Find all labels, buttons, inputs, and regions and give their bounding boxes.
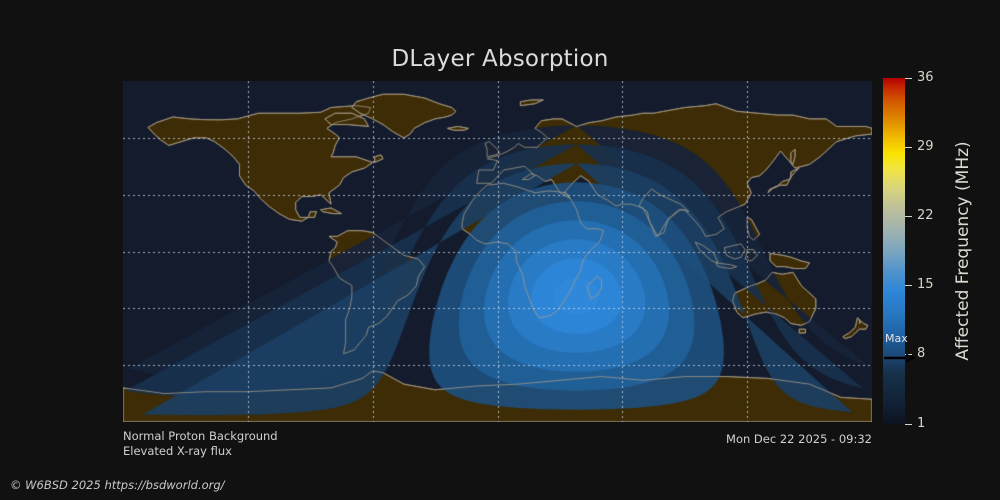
colorbar-tick-label: 1 <box>917 417 925 430</box>
tick-dash-icon <box>905 424 912 425</box>
world-map-absorption-canvas[interactable] <box>123 81 872 422</box>
tick-dash-icon <box>905 285 912 286</box>
colorbar-tick-label: 22 <box>917 209 934 222</box>
timestamp: Mon Dec 22 2025 - 09:32 <box>726 432 872 446</box>
colorbar-tick-label: 29 <box>917 140 934 153</box>
copyright-notice: © W6BSD 2025 https://bsdworld.org/ <box>10 478 225 492</box>
colorbar-axis-label: Affected Frequency (MHz) <box>953 78 977 424</box>
colorbar[interactable] <box>883 78 905 424</box>
colorbar-tick-label: 36 <box>917 71 934 84</box>
status-block: Normal Proton Background Elevated X-ray … <box>123 429 278 459</box>
map-plot-area[interactable] <box>123 81 872 422</box>
colorbar-gradient <box>883 78 905 424</box>
page-title: DLayer Absorption <box>0 46 1000 72</box>
tick-dash-icon <box>905 216 912 217</box>
status-xray-flux: Elevated X-ray flux <box>123 444 278 459</box>
colorbar-tick-label: 8 <box>917 347 925 360</box>
tick-dash-icon <box>905 147 912 148</box>
tick-dash-icon <box>905 354 912 355</box>
tick-dash-icon <box>905 78 912 79</box>
status-proton-background: Normal Proton Background <box>123 429 278 444</box>
colorbar-tick-label: 15 <box>917 278 934 291</box>
